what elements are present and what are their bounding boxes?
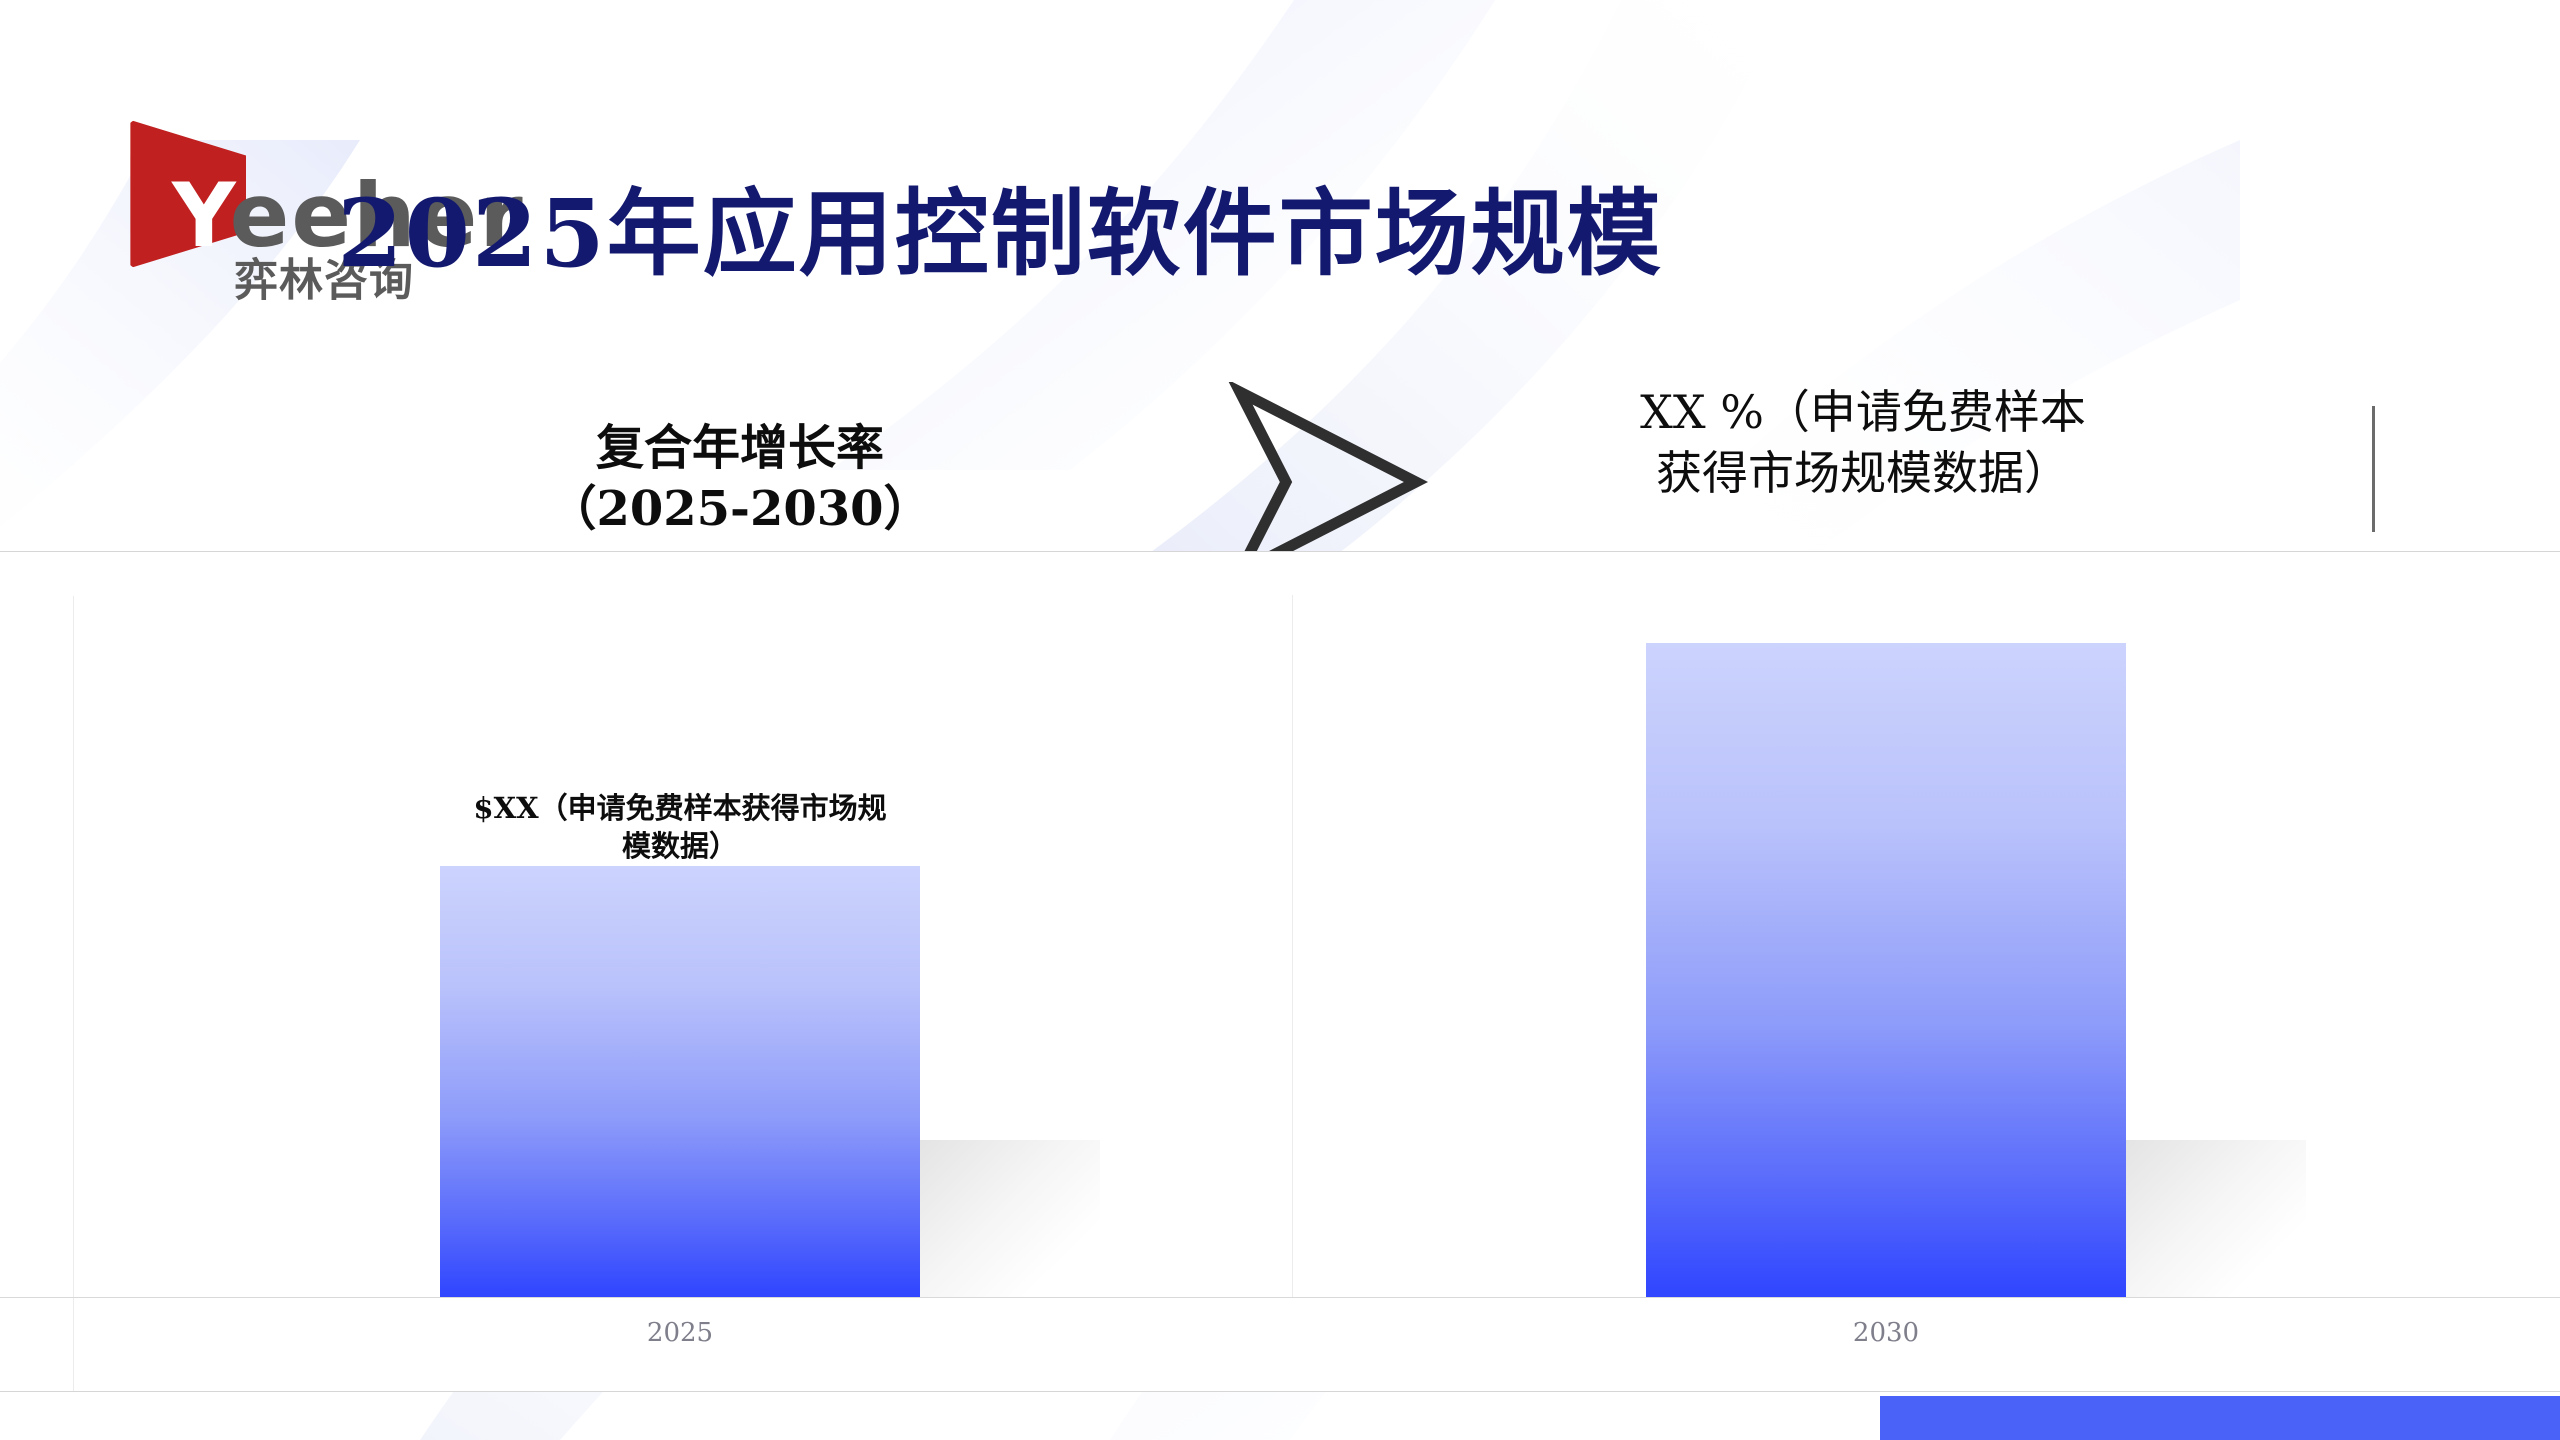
bar-value-label-line2: 模数据） [440, 828, 920, 866]
bottom-accent-bar [1880, 1396, 2560, 1440]
bar-2025[interactable] [440, 866, 920, 1297]
chart-baseline [0, 1297, 2560, 1298]
x-tick-2030: 2030 [1646, 1318, 2126, 1348]
cagr-value-line1: XX %（申请免费样本 [1628, 382, 2098, 443]
cagr-value-line2: 获得市场规模数据） [1628, 443, 2098, 504]
bar-2030[interactable] [1646, 643, 2126, 1297]
chart-panel [0, 551, 2560, 1392]
bar-value-label-2025: $XX（申请免费样本获得市场规 模数据） [440, 790, 920, 865]
cagr-value-text: XX %（申请免费样本 获得市场规模数据） [1628, 382, 2098, 504]
bar-value-label-line1: $XX（申请免费样本获得市场规 [440, 790, 920, 828]
vertical-divider [2372, 406, 2375, 532]
page-title: 2025年应用控制软件市场规模 [0, 158, 2280, 294]
cagr-label-line1: 复合年增长率 [540, 418, 940, 479]
slide-canvas: Yeeher 弈林咨询 2025年应用控制软件市场规模 复合年增长率 （2025… [0, 0, 2560, 1440]
chart-column-divider [1292, 595, 1293, 1297]
cagr-label: 复合年增长率 （2025-2030） [540, 418, 940, 541]
x-tick-2025: 2025 [440, 1318, 920, 1348]
cagr-label-line2: （2025-2030） [540, 479, 940, 540]
